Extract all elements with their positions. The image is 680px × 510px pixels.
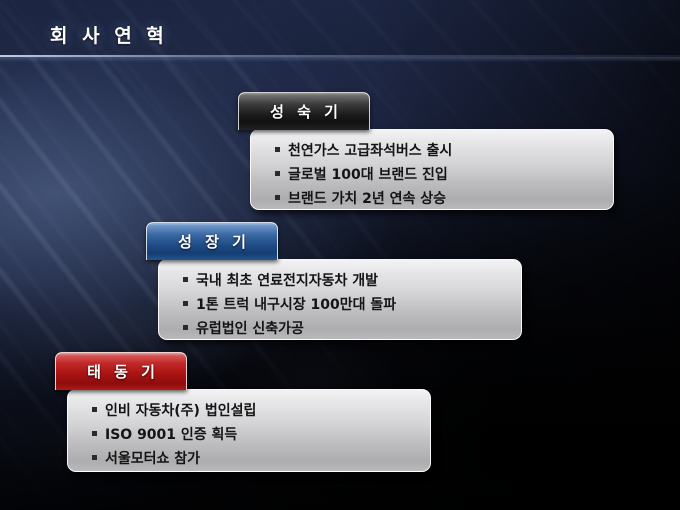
list-item: 국내 최초 연료전지자동차 개발 xyxy=(183,272,521,291)
square-bullet-icon xyxy=(92,455,97,460)
block-tab-label: 성 장 기 xyxy=(174,231,250,252)
square-bullet-icon xyxy=(92,431,97,436)
list-item: 인비 자동차(주) 법인설립 xyxy=(92,402,430,421)
block-tab-label: 성 숙 기 xyxy=(266,101,342,122)
square-bullet-icon xyxy=(275,147,280,152)
list-item: 서울모터쇼 참가 xyxy=(92,450,430,469)
list-item-label: 글로벌 100대 브랜드 진입 xyxy=(288,166,448,185)
list-item: ISO 9001 인증 획득 xyxy=(92,426,430,445)
list-item-label: ISO 9001 인증 획득 xyxy=(105,426,237,445)
list-item: 브랜드 가치 2년 연속 상승 xyxy=(275,190,613,209)
block-panel-inception: 인비 자동차(주) 법인설립 ISO 9001 인증 획득 서울모터쇼 참가 xyxy=(67,389,431,472)
timeline-block-growth: 성 장 기 국내 최초 연료전지자동차 개발 1톤 트럭 내구시장 100만대 … xyxy=(146,222,522,340)
list-item: 천연가스 고급좌석버스 출시 xyxy=(275,142,613,161)
square-bullet-icon xyxy=(183,301,188,306)
page-title: 회 사 연 혁 xyxy=(50,21,168,48)
block-tab-growth[interactable]: 성 장 기 xyxy=(146,222,278,260)
list-item-label: 서울모터쇼 참가 xyxy=(105,450,200,469)
timeline-block-maturity: 성 숙 기 천연가스 고급좌석버스 출시 글로벌 100대 브랜드 진입 브랜드… xyxy=(238,92,614,210)
list-item-label: 인비 자동차(주) 법인설립 xyxy=(105,402,256,421)
square-bullet-icon xyxy=(275,171,280,176)
slide-canvas: 회 사 연 혁 성 숙 기 천연가스 고급좌석버스 출시 글로벌 100대 브랜… xyxy=(0,0,680,510)
list-item-label: 1톤 트럭 내구시장 100만대 돌파 xyxy=(196,296,396,315)
square-bullet-icon xyxy=(183,325,188,330)
block-tab-maturity[interactable]: 성 숙 기 xyxy=(238,92,370,130)
list-item-label: 국내 최초 연료전지자동차 개발 xyxy=(196,272,378,291)
list-item: 1톤 트럭 내구시장 100만대 돌파 xyxy=(183,296,521,315)
square-bullet-icon xyxy=(275,195,280,200)
block-panel-growth: 국내 최초 연료전지자동차 개발 1톤 트럭 내구시장 100만대 돌파 유럽법… xyxy=(158,259,522,340)
list-item: 글로벌 100대 브랜드 진입 xyxy=(275,166,613,185)
block-tab-label: 태 동 기 xyxy=(83,361,159,382)
block-panel-maturity: 천연가스 고급좌석버스 출시 글로벌 100대 브랜드 진입 브랜드 가치 2년… xyxy=(250,129,614,210)
list-item-label: 유럽법인 신축가공 xyxy=(196,320,304,339)
block-tab-inception[interactable]: 태 동 기 xyxy=(55,352,187,390)
square-bullet-icon xyxy=(92,407,97,412)
timeline-block-inception: 태 동 기 인비 자동차(주) 법인설립 ISO 9001 인증 획득 서울모터… xyxy=(55,352,431,472)
list-item-label: 천연가스 고급좌석버스 출시 xyxy=(288,142,452,161)
list-item-label: 브랜드 가치 2년 연속 상승 xyxy=(288,190,446,209)
header-divider-glow xyxy=(0,57,680,62)
square-bullet-icon xyxy=(183,277,188,282)
list-item: 유럽법인 신축가공 xyxy=(183,320,521,339)
